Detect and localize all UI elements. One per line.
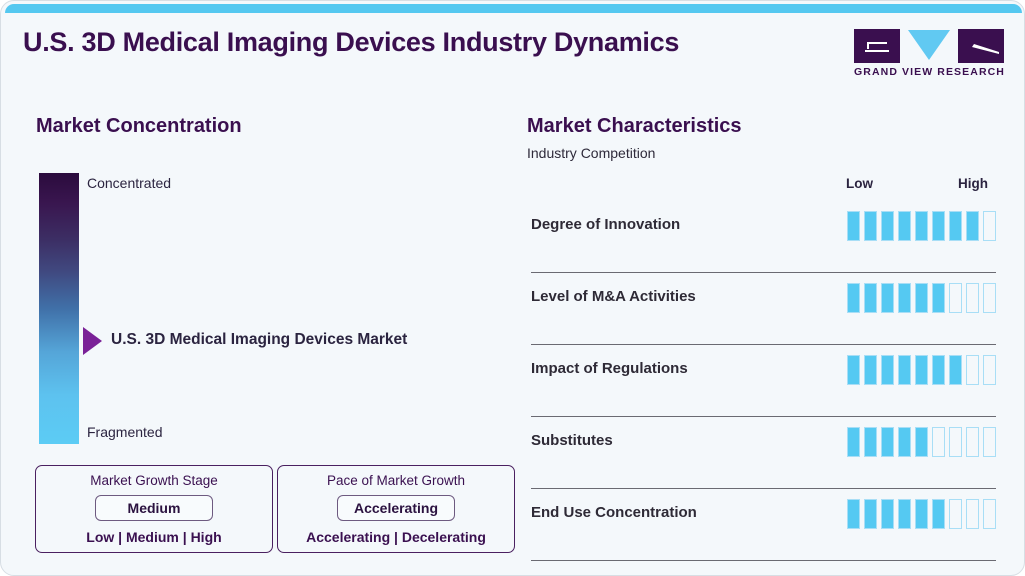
characteristic-meter [847, 355, 996, 385]
meter-cell-filled [864, 211, 877, 241]
meter-cell-empty [983, 283, 996, 313]
characteristic-row: End Use Concentration [531, 489, 996, 561]
meter-cell-filled [898, 499, 911, 529]
box-title: Pace of Market Growth [278, 473, 514, 488]
meter-cell-filled [881, 211, 894, 241]
characteristic-meter [847, 211, 996, 241]
meter-cell-filled [966, 211, 979, 241]
meter-cell-filled [915, 283, 928, 313]
meter-cell-empty [966, 427, 979, 457]
meter-cell-filled [881, 355, 894, 385]
logo-caption: GRAND VIEW RESEARCH [854, 66, 1004, 78]
meter-cell-filled [864, 355, 877, 385]
meter-cell-filled [898, 427, 911, 457]
characteristic-meter [847, 283, 996, 313]
meter-cell-empty [983, 499, 996, 529]
pace-of-market-growth-box: Pace of Market Growth Accelerating Accel… [277, 465, 515, 553]
brand-logo: GRAND VIEW RESEARCH [854, 29, 1004, 85]
meter-cell-filled [932, 499, 945, 529]
meter-cell-filled [898, 211, 911, 241]
meter-cell-filled [847, 355, 860, 385]
meter-cell-filled [864, 499, 877, 529]
logo-mark-icon [854, 29, 1004, 63]
characteristic-row: Impact of Regulations [531, 345, 996, 417]
meter-cell-filled [847, 211, 860, 241]
meter-cell-filled [898, 283, 911, 313]
box-scale-options: Low | Medium | High [36, 529, 272, 545]
characteristic-meter [847, 427, 996, 457]
infographic-canvas: U.S. 3D Medical Imaging Devices Industry… [0, 0, 1025, 576]
market-characteristics-subtitle: Industry Competition [527, 145, 655, 161]
box-scale-options: Accelerating | Decelerating [278, 529, 514, 545]
header: U.S. 3D Medical Imaging Devices Industry… [1, 13, 1025, 87]
meter-cell-empty [932, 427, 945, 457]
scale-label-fragmented: Fragmented [87, 424, 162, 440]
characteristic-label: Substitutes [531, 432, 613, 449]
characteristic-meter [847, 499, 996, 529]
meter-cell-filled [847, 283, 860, 313]
meter-cell-empty [966, 499, 979, 529]
characteristic-row: Level of M&A Activities [531, 273, 996, 345]
meter-cell-empty [949, 499, 962, 529]
meter-cell-filled [847, 499, 860, 529]
meter-scale-low-label: Low [846, 176, 873, 191]
meter-cell-empty [949, 427, 962, 457]
scale-label-concentrated: Concentrated [87, 175, 171, 191]
page-title: U.S. 3D Medical Imaging Devices Industry… [23, 27, 679, 58]
meter-cell-filled [864, 427, 877, 457]
characteristic-label: End Use Concentration [531, 504, 697, 521]
characteristic-row: Substitutes [531, 417, 996, 489]
meter-cell-filled [915, 211, 928, 241]
box-value[interactable]: Medium [95, 495, 213, 521]
meter-cell-empty [983, 211, 996, 241]
meter-cell-filled [932, 211, 945, 241]
meter-cell-filled [949, 211, 962, 241]
meter-cell-empty [966, 355, 979, 385]
market-concentration-title: Market Concentration [36, 115, 242, 138]
meter-cell-filled [881, 499, 894, 529]
meter-cell-filled [915, 355, 928, 385]
concentration-gradient-bar [39, 173, 79, 444]
meter-cell-filled [932, 283, 945, 313]
characteristic-row: Degree of Innovation [531, 201, 996, 273]
market-position-arrow-icon [83, 327, 102, 355]
box-title: Market Growth Stage [36, 473, 272, 488]
characteristic-label: Level of M&A Activities [531, 288, 696, 305]
meter-cell-empty [983, 427, 996, 457]
meter-scale-high-label: High [958, 176, 988, 191]
meter-cell-filled [949, 355, 962, 385]
meter-cell-filled [932, 355, 945, 385]
characteristic-label: Degree of Innovation [531, 216, 680, 233]
market-growth-stage-box: Market Growth Stage Medium Low | Medium … [35, 465, 273, 553]
meter-cell-filled [898, 355, 911, 385]
characteristic-label: Impact of Regulations [531, 360, 688, 377]
row-divider [531, 560, 996, 561]
meter-cell-filled [915, 499, 928, 529]
meter-cell-filled [864, 283, 877, 313]
meter-cell-empty [966, 283, 979, 313]
box-value[interactable]: Accelerating [337, 495, 455, 521]
meter-cell-filled [881, 283, 894, 313]
top-accent-bar [5, 4, 1022, 13]
meter-cell-empty [949, 283, 962, 313]
concentration-scale [39, 173, 79, 444]
meter-cell-filled [881, 427, 894, 457]
market-position-label: U.S. 3D Medical Imaging Devices Market [111, 331, 407, 349]
meter-cell-filled [847, 427, 860, 457]
meter-cell-filled [915, 427, 928, 457]
meter-cell-empty [983, 355, 996, 385]
market-characteristics-title: Market Characteristics [527, 115, 742, 138]
